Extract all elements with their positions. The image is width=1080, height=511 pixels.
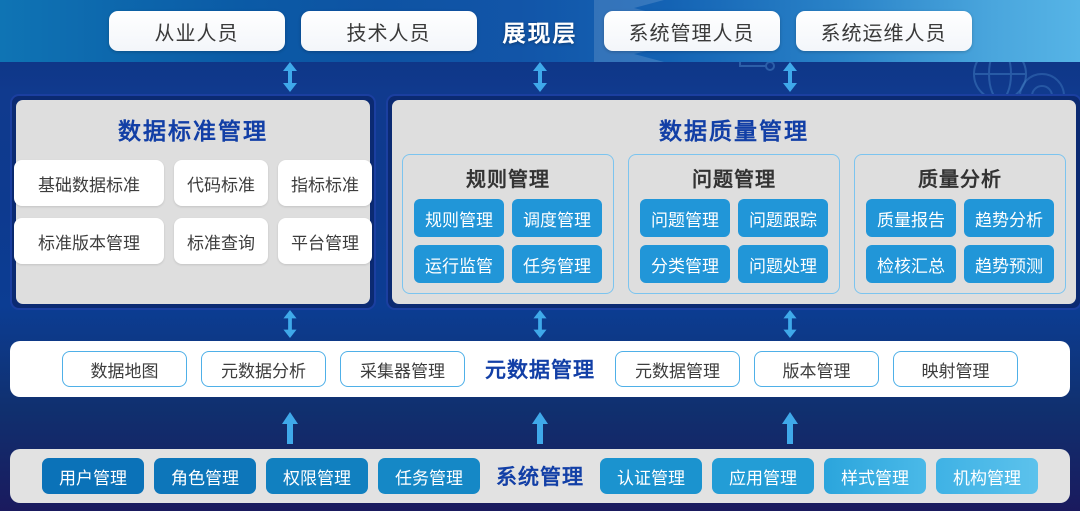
connector-arrows-upper — [0, 62, 1080, 96]
role-pill-system-admin[interactable]: 系统管理人员 — [604, 11, 780, 51]
std-item-code[interactable]: 代码标准 — [174, 160, 268, 206]
up-arrow-icon — [281, 412, 299, 444]
bidirectional-arrow-icon — [781, 62, 799, 92]
connector-arrows-middle — [0, 310, 1080, 344]
btn-issue-tracking[interactable]: 问题跟踪 — [738, 199, 828, 237]
issue-management-title: 问题管理 — [692, 163, 776, 192]
meta-item-collector-management[interactable]: 采集器管理 — [340, 351, 465, 387]
system-management-title: 系统管理 — [490, 461, 590, 491]
rule-management-card: 规则管理 规则管理 调度管理 运行监管 任务管理 — [402, 154, 614, 294]
bidirectional-arrow-icon — [781, 310, 799, 338]
btn-trend-analysis[interactable]: 趋势分析 — [964, 199, 1054, 237]
btn-schedule-management[interactable]: 调度管理 — [512, 199, 602, 237]
data-standard-title: 数据标准管理 — [118, 112, 268, 146]
std-item-version[interactable]: 标准版本管理 — [14, 218, 164, 264]
bidirectional-arrow-icon — [281, 62, 299, 92]
metadata-management-title: 元数据管理 — [479, 354, 601, 384]
sys-btn-role-management[interactable]: 角色管理 — [154, 458, 256, 494]
std-item-basic-data[interactable]: 基础数据标准 — [14, 160, 164, 206]
btn-runtime-monitoring[interactable]: 运行监管 — [414, 245, 504, 283]
data-quality-sections: 规则管理 规则管理 调度管理 运行监管 任务管理 问题管理 问题管理 问题跟踪 — [402, 154, 1066, 294]
issue-management-card: 问题管理 问题管理 问题跟踪 分类管理 问题处理 — [628, 154, 840, 294]
quality-analysis-card: 质量分析 质量报告 趋势分析 检核汇总 趋势预测 — [854, 154, 1066, 294]
presentation-layer-bar: 从业人员 技术人员 展现层 系统管理人员 系统运维人员 — [0, 0, 1080, 62]
governance-panels: 数据标准管理 基础数据标准 代码标准 指标标准 标准版本管理 标准查询 平台管理… — [10, 94, 1070, 310]
sys-btn-task-management[interactable]: 任务管理 — [378, 458, 480, 494]
bidirectional-arrow-icon — [281, 310, 299, 338]
rule-management-title: 规则管理 — [466, 163, 550, 192]
btn-issue-management[interactable]: 问题管理 — [640, 199, 730, 237]
sys-btn-application-management[interactable]: 应用管理 — [712, 458, 814, 494]
data-standard-panel: 数据标准管理 基础数据标准 代码标准 指标标准 标准版本管理 标准查询 平台管理 — [10, 94, 376, 310]
sys-btn-permission-management[interactable]: 权限管理 — [266, 458, 368, 494]
meta-item-version-management[interactable]: 版本管理 — [754, 351, 879, 387]
bidirectional-arrow-icon — [531, 310, 549, 338]
sys-btn-user-management[interactable]: 用户管理 — [42, 458, 144, 494]
sys-btn-org-management[interactable]: 机构管理 — [936, 458, 1038, 494]
btn-trend-forecast[interactable]: 趋势预测 — [964, 245, 1054, 283]
data-quality-title: 数据质量管理 — [659, 112, 809, 146]
role-pill-technician[interactable]: 技术人员 — [301, 11, 477, 51]
role-pill-employee[interactable]: 从业人员 — [109, 11, 285, 51]
data-standard-items: 基础数据标准 代码标准 指标标准 标准版本管理 标准查询 平台管理 — [14, 160, 372, 264]
presentation-layer-title: 展现层 — [493, 14, 588, 48]
std-item-indicator[interactable]: 指标标准 — [278, 160, 372, 206]
role-pill-system-ops[interactable]: 系统运维人员 — [796, 11, 972, 51]
btn-category-management[interactable]: 分类管理 — [640, 245, 730, 283]
meta-item-metadata-management[interactable]: 元数据管理 — [615, 351, 740, 387]
meta-item-data-map[interactable]: 数据地图 — [62, 351, 187, 387]
data-quality-panel: 数据质量管理 规则管理 规则管理 调度管理 运行监管 任务管理 问题管理 — [386, 94, 1080, 310]
metadata-management-bar: 数据地图 元数据分析 采集器管理 元数据管理 元数据管理 版本管理 映射管理 — [10, 341, 1070, 397]
btn-rule-management[interactable]: 规则管理 — [414, 199, 504, 237]
btn-issue-processing[interactable]: 问题处理 — [738, 245, 828, 283]
sys-btn-style-management[interactable]: 样式管理 — [824, 458, 926, 494]
connector-arrows-lower — [0, 412, 1080, 446]
quality-analysis-title: 质量分析 — [918, 163, 1002, 192]
std-item-query[interactable]: 标准查询 — [174, 218, 268, 264]
std-item-platform[interactable]: 平台管理 — [278, 218, 372, 264]
btn-audit-summary[interactable]: 检核汇总 — [866, 245, 956, 283]
btn-quality-report[interactable]: 质量报告 — [866, 199, 956, 237]
architecture-diagram: 从业人员 技术人员 展现层 系统管理人员 系统运维人员 数据标准管理 基础数据标… — [0, 0, 1080, 511]
btn-task-management[interactable]: 任务管理 — [512, 245, 602, 283]
up-arrow-icon — [531, 412, 549, 444]
meta-item-metadata-analysis[interactable]: 元数据分析 — [201, 351, 326, 387]
bidirectional-arrow-icon — [531, 62, 549, 92]
up-arrow-icon — [781, 412, 799, 444]
system-management-bar: 用户管理 角色管理 权限管理 任务管理 系统管理 认证管理 应用管理 样式管理 … — [10, 449, 1070, 503]
meta-item-mapping-management[interactable]: 映射管理 — [893, 351, 1018, 387]
sys-btn-auth-management[interactable]: 认证管理 — [600, 458, 702, 494]
